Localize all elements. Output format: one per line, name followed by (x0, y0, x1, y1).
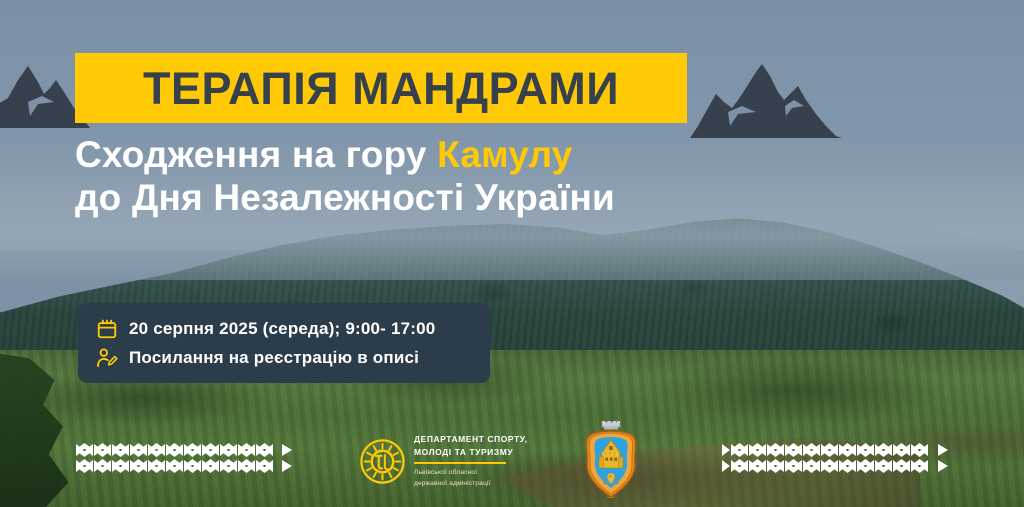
registration-row: Посилання на реєстрацію в описі (78, 347, 490, 369)
event-info-box: 20 серпня 2025 (середа); 9:00- 17:00 Пос… (78, 303, 490, 383)
subtitle-line-2: до Дня Незалежності України (75, 177, 955, 220)
department-title-line-2: МОЛОДІ ТА ТУРИЗМУ (414, 447, 528, 458)
subtitle-mountain-name: Камулу (437, 134, 572, 175)
department-subtitle-line-1: Львівської обласної (414, 469, 528, 478)
mural-crown (602, 421, 620, 429)
department-gear-emblem (360, 439, 405, 484)
subtitle-line-1: Сходження на гору Камулу (75, 134, 955, 177)
embroidery-ornament-right (722, 442, 948, 474)
lviv-oblast-coat-of-arms (580, 420, 642, 500)
department-subtitle-line-2: державної адміністрації (414, 480, 528, 489)
user-signup-icon (96, 347, 118, 369)
mountain-line-art-right (690, 56, 842, 138)
event-poster: ТЕРАПІЯ МАНДРАМИ Сходження на гору Камул… (0, 0, 1024, 507)
event-date-row: 20 серпня 2025 (середа); 9:00- 17:00 (78, 318, 490, 340)
title-banner: ТЕРАПІЯ МАНДРАМИ (75, 53, 687, 123)
subtitle-line-1-prefix: Сходження на гору (75, 134, 437, 175)
department-logo: ДЕПАРТАМЕНТ СПОРТУ, МОЛОДІ ТА ТУРИЗМУ Ль… (360, 434, 528, 488)
calendar-icon (96, 318, 118, 340)
department-divider (414, 462, 506, 464)
registration-text: Посилання на реєстрацію в описі (129, 348, 419, 368)
department-title-line-1: ДЕПАРТАМЕНТ СПОРТУ, (414, 434, 528, 445)
poster-title: ТЕРАПІЯ МАНДРАМИ (143, 66, 619, 111)
department-text: ДЕПАРТАМЕНТ СПОРТУ, МОЛОДІ ТА ТУРИЗМУ Ль… (414, 434, 528, 488)
event-date-text: 20 серпня 2025 (середа); 9:00- 17:00 (129, 319, 435, 339)
embroidery-ornament-left (76, 442, 292, 474)
poster-subtitle: Сходження на гору Камулу до Дня Незалежн… (75, 134, 955, 220)
